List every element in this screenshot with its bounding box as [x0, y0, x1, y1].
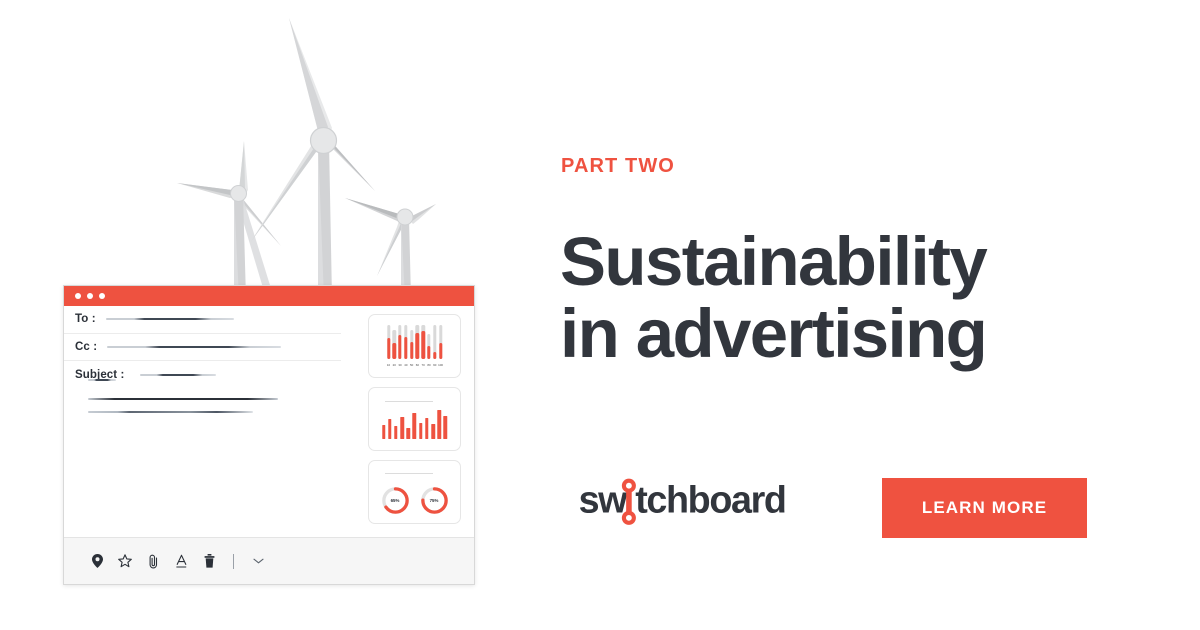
- chart-1-bar-group: [393, 325, 396, 359]
- chart-2-bar: [388, 419, 392, 439]
- logo-wordmark: sw tchboard: [579, 478, 786, 520]
- chart-card-bars[interactable]: [368, 387, 461, 451]
- chart-1-tick: 10: [386, 363, 391, 367]
- chart-card-range-bars[interactable]: 102030405060708090100: [368, 314, 461, 378]
- chart-1-bar-value: [416, 333, 419, 359]
- chart-1-bar-group: [433, 325, 436, 359]
- page-title: Sustainability in advertising: [560, 226, 1120, 370]
- paperclip-icon[interactable]: [146, 553, 160, 569]
- chart-1-bar-value: [393, 343, 396, 359]
- content-panel: PART TWO Sustainability in advertising s…: [560, 0, 1120, 630]
- chart-1-bars: [387, 325, 442, 359]
- chart-1-tick: 40: [403, 363, 408, 367]
- chart-1-bar-value: [404, 337, 407, 359]
- chart-2-bars: [382, 409, 447, 439]
- chart-1-bar-value: [433, 352, 436, 359]
- star-icon[interactable]: [118, 553, 132, 569]
- eyebrow-label: PART TWO: [561, 155, 675, 178]
- chart-1-tick: 60: [415, 363, 420, 367]
- chart-1-bar-value: [421, 331, 424, 359]
- chart-1-tick: 30: [398, 363, 403, 367]
- chart-1-bar-group: [410, 325, 413, 359]
- chart-card-donuts[interactable]: 65%75%: [368, 460, 461, 524]
- wind-turbines-icon: [60, 8, 440, 298]
- chart-2-bar: [444, 416, 448, 439]
- email-fields: To : Cc : Subject :: [64, 306, 341, 389]
- body-line: [88, 398, 278, 400]
- chart-2-rule: [385, 401, 433, 402]
- window-dot-maximize[interactable]: [99, 293, 105, 299]
- chart-1-bar-group: [404, 325, 407, 359]
- donut-label: 65%: [382, 487, 409, 514]
- chart-1-tick: 100: [438, 363, 443, 367]
- chart-1-bar-value: [410, 342, 413, 359]
- chart-2-bar: [437, 410, 441, 439]
- chart-1-tick: 90: [432, 363, 437, 367]
- chart-1-bar-value: [439, 343, 442, 359]
- field-value-subject[interactable]: [140, 374, 216, 376]
- email-body-area: To : Cc : Subject : 10203040506070809010…: [64, 306, 474, 557]
- chart-2-bar: [413, 413, 417, 439]
- email-composer-window[interactable]: To : Cc : Subject : 10203040506070809010…: [63, 285, 475, 585]
- chart-2-bar: [419, 423, 423, 439]
- text-format-icon[interactable]: [174, 553, 188, 569]
- window-titlebar: [64, 286, 474, 306]
- window-dot-close[interactable]: [75, 293, 81, 299]
- chart-1-bar-group: [427, 325, 430, 359]
- field-value-to[interactable]: [106, 318, 234, 320]
- chart-2-bar: [382, 425, 386, 439]
- donut-label: 75%: [421, 487, 448, 514]
- chart-1-bar-group: [421, 325, 424, 359]
- chart-1-bar-group: [439, 325, 442, 359]
- chart-1-tick-labels: 102030405060708090100: [386, 363, 443, 367]
- chart-1-tick: 20: [392, 363, 397, 367]
- location-pin-icon[interactable]: [90, 553, 104, 569]
- chart-2-bar: [425, 418, 429, 439]
- toolbar-divider: [233, 554, 234, 569]
- donut-chart: 65%: [382, 487, 409, 514]
- headline-line-1: Sustainability: [560, 226, 1120, 298]
- trash-icon[interactable]: [202, 553, 216, 569]
- chart-3-rule: [385, 473, 433, 474]
- window-dot-minimize[interactable]: [87, 293, 93, 299]
- chart-3-donuts: 65%75%: [369, 487, 460, 514]
- chart-1-tick: 70: [421, 363, 426, 367]
- chart-1-bar-group: [387, 325, 390, 359]
- headline-line-2: in advertising: [560, 298, 1120, 370]
- chart-2-bar: [431, 424, 435, 439]
- body-line: [88, 411, 253, 413]
- field-label-to: To :: [75, 313, 96, 325]
- chart-2-bar: [407, 428, 411, 439]
- chart-1-bar-group: [416, 325, 419, 359]
- chart-1-bar-value: [387, 338, 390, 359]
- email-toolbar[interactable]: [64, 537, 474, 584]
- chart-1-bar-group: [398, 325, 401, 359]
- switchboard-logo[interactable]: sw tchboard: [562, 478, 794, 526]
- chart-1-tick: 50: [409, 363, 414, 367]
- field-row-to[interactable]: To :: [64, 306, 341, 334]
- attachment-chart-cards: 102030405060708090100 65%75%: [368, 314, 461, 524]
- field-label-cc: Cc :: [75, 341, 97, 353]
- donut-chart: 75%: [421, 487, 448, 514]
- learn-more-button[interactable]: LEARN MORE: [882, 478, 1087, 538]
- email-message-body[interactable]: [88, 379, 338, 413]
- chart-2-bar: [400, 417, 404, 439]
- chart-1-tick: 80: [427, 363, 432, 367]
- chart-1-bar-value: [427, 346, 430, 359]
- chevron-down-icon[interactable]: [251, 553, 265, 569]
- field-row-cc[interactable]: Cc :: [64, 334, 341, 362]
- body-line: [88, 379, 116, 381]
- chart-2-bar: [394, 426, 398, 439]
- field-value-cc[interactable]: [107, 346, 281, 348]
- chart-1-bar-value: [398, 335, 401, 359]
